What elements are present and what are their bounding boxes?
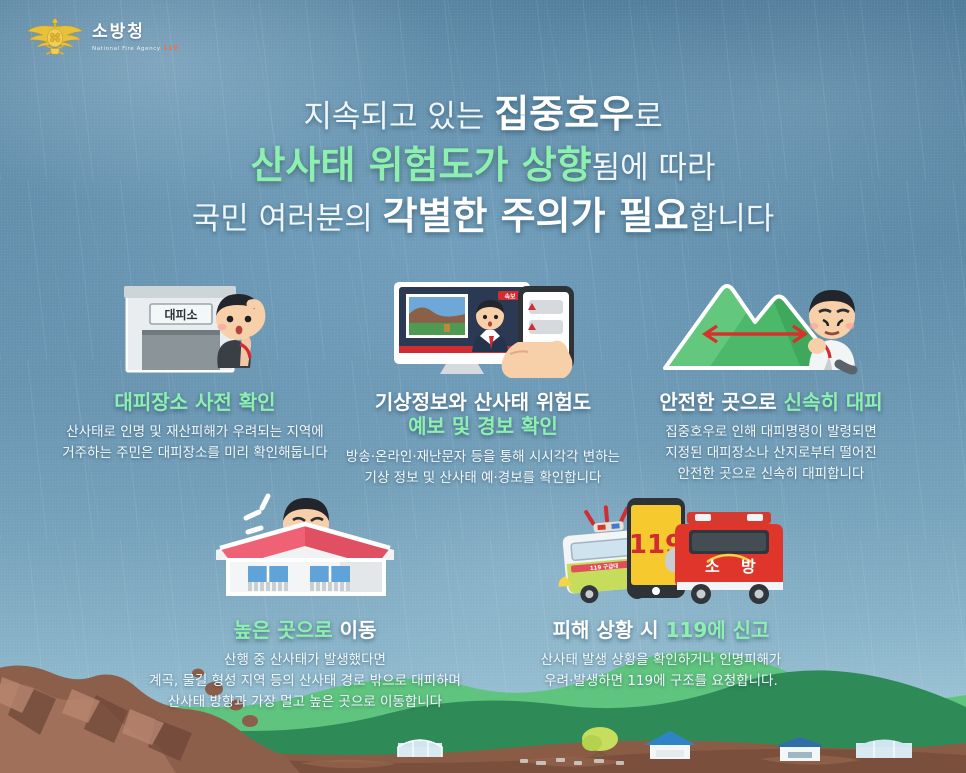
cards-row-bottom: 높은 곳으로 이동 산행 중 산사태가 발생했다면 계곡, 물길 형성 지역 등… bbox=[0, 490, 966, 713]
card-title: 기상정보와 산사태 위험도 예보 및 경보 확인 bbox=[342, 390, 624, 439]
card-title: 피해 상황 시 119에 신고 bbox=[496, 618, 826, 642]
card-report-119: 119 구급대 119 bbox=[496, 490, 826, 713]
card-body: 산사태로 인명 및 재산피해가 우려되는 지역에 거주하는 주민은 대피장소를 … bbox=[54, 422, 336, 464]
shelter-sign-label: 대피소 bbox=[164, 307, 197, 322]
card-body: 산행 중 산사태가 발생했다면 계곡, 물길 형성 지역 등의 산사태 경로 밖… bbox=[140, 650, 470, 713]
card-shelter-check: 대피소 bbox=[54, 272, 336, 489]
fire-agency-emblem-icon bbox=[26, 14, 84, 58]
tv-news-and-smartphone-icon: 속보 bbox=[342, 272, 624, 380]
card-move-high-ground: 높은 곳으로 이동 산행 중 산사태가 발생했다면 계곡, 물길 형성 지역 등… bbox=[140, 490, 470, 713]
svg-text:방: 방 bbox=[741, 557, 756, 576]
card-body: 산사태 발생 상황을 확인하거나 인명피해가 우려·발생하면 119에 구조를 … bbox=[496, 650, 826, 692]
card-title: 대피장소 사전 확인 bbox=[54, 390, 336, 414]
agency-logo: 소방청 National Fire Agency 119 bbox=[26, 14, 178, 58]
ambulance-phone-firetruck-icon: 119 구급대 119 bbox=[496, 490, 826, 608]
svg-text:소: 소 bbox=[705, 557, 720, 576]
cards-row-top: 대피소 bbox=[0, 272, 966, 489]
house-with-red-roof-icon bbox=[140, 490, 470, 608]
infographic-poster: 소방청 National Fire Agency 119 지속되고 있는 집중호… bbox=[0, 0, 966, 773]
breaking-news-badge: 속보 bbox=[504, 293, 516, 301]
card-weather-info: 속보 기상정보와 산사태 위험도 예보 및 경보 확인 bbox=[342, 272, 624, 489]
card-body: 집중호우로 인해 대피명령이 발령되면 지정된 대피장소나 산지로부터 떨어진 … bbox=[630, 422, 912, 485]
card-title: 안전한 곳으로 신속히 대피 bbox=[630, 390, 912, 414]
agency-119-mark: 119 bbox=[163, 44, 178, 52]
agency-name-kr: 소방청 bbox=[92, 24, 178, 41]
agency-name-en: National Fire Agency 119 bbox=[92, 45, 178, 53]
shelter-building-icon: 대피소 bbox=[54, 272, 336, 380]
headline: 지속되고 있는 집중호우로 산사태 위험도가 상향됨에 따라 국민 여러분의 각… bbox=[0, 92, 966, 238]
green-mountain-with-distance-arrow-icon bbox=[630, 272, 912, 380]
card-title: 높은 곳으로 이동 bbox=[140, 618, 470, 642]
headline-line-2: 산사태 위험도가 상향됨에 따라 bbox=[0, 143, 966, 188]
card-body: 방송·온라인·재난문자 등을 통해 시시각각 변하는 기상 정보 및 산사태 예… bbox=[342, 447, 624, 489]
headline-line-3: 국민 여러분의 각별한 주의가 필요합니다 bbox=[0, 194, 966, 239]
card-evacuate-safe: 안전한 곳으로 신속히 대피 집중호우로 인해 대피명령이 발령되면 지정된 대… bbox=[630, 272, 912, 489]
headline-line-1: 지속되고 있는 집중호우로 bbox=[0, 92, 966, 137]
